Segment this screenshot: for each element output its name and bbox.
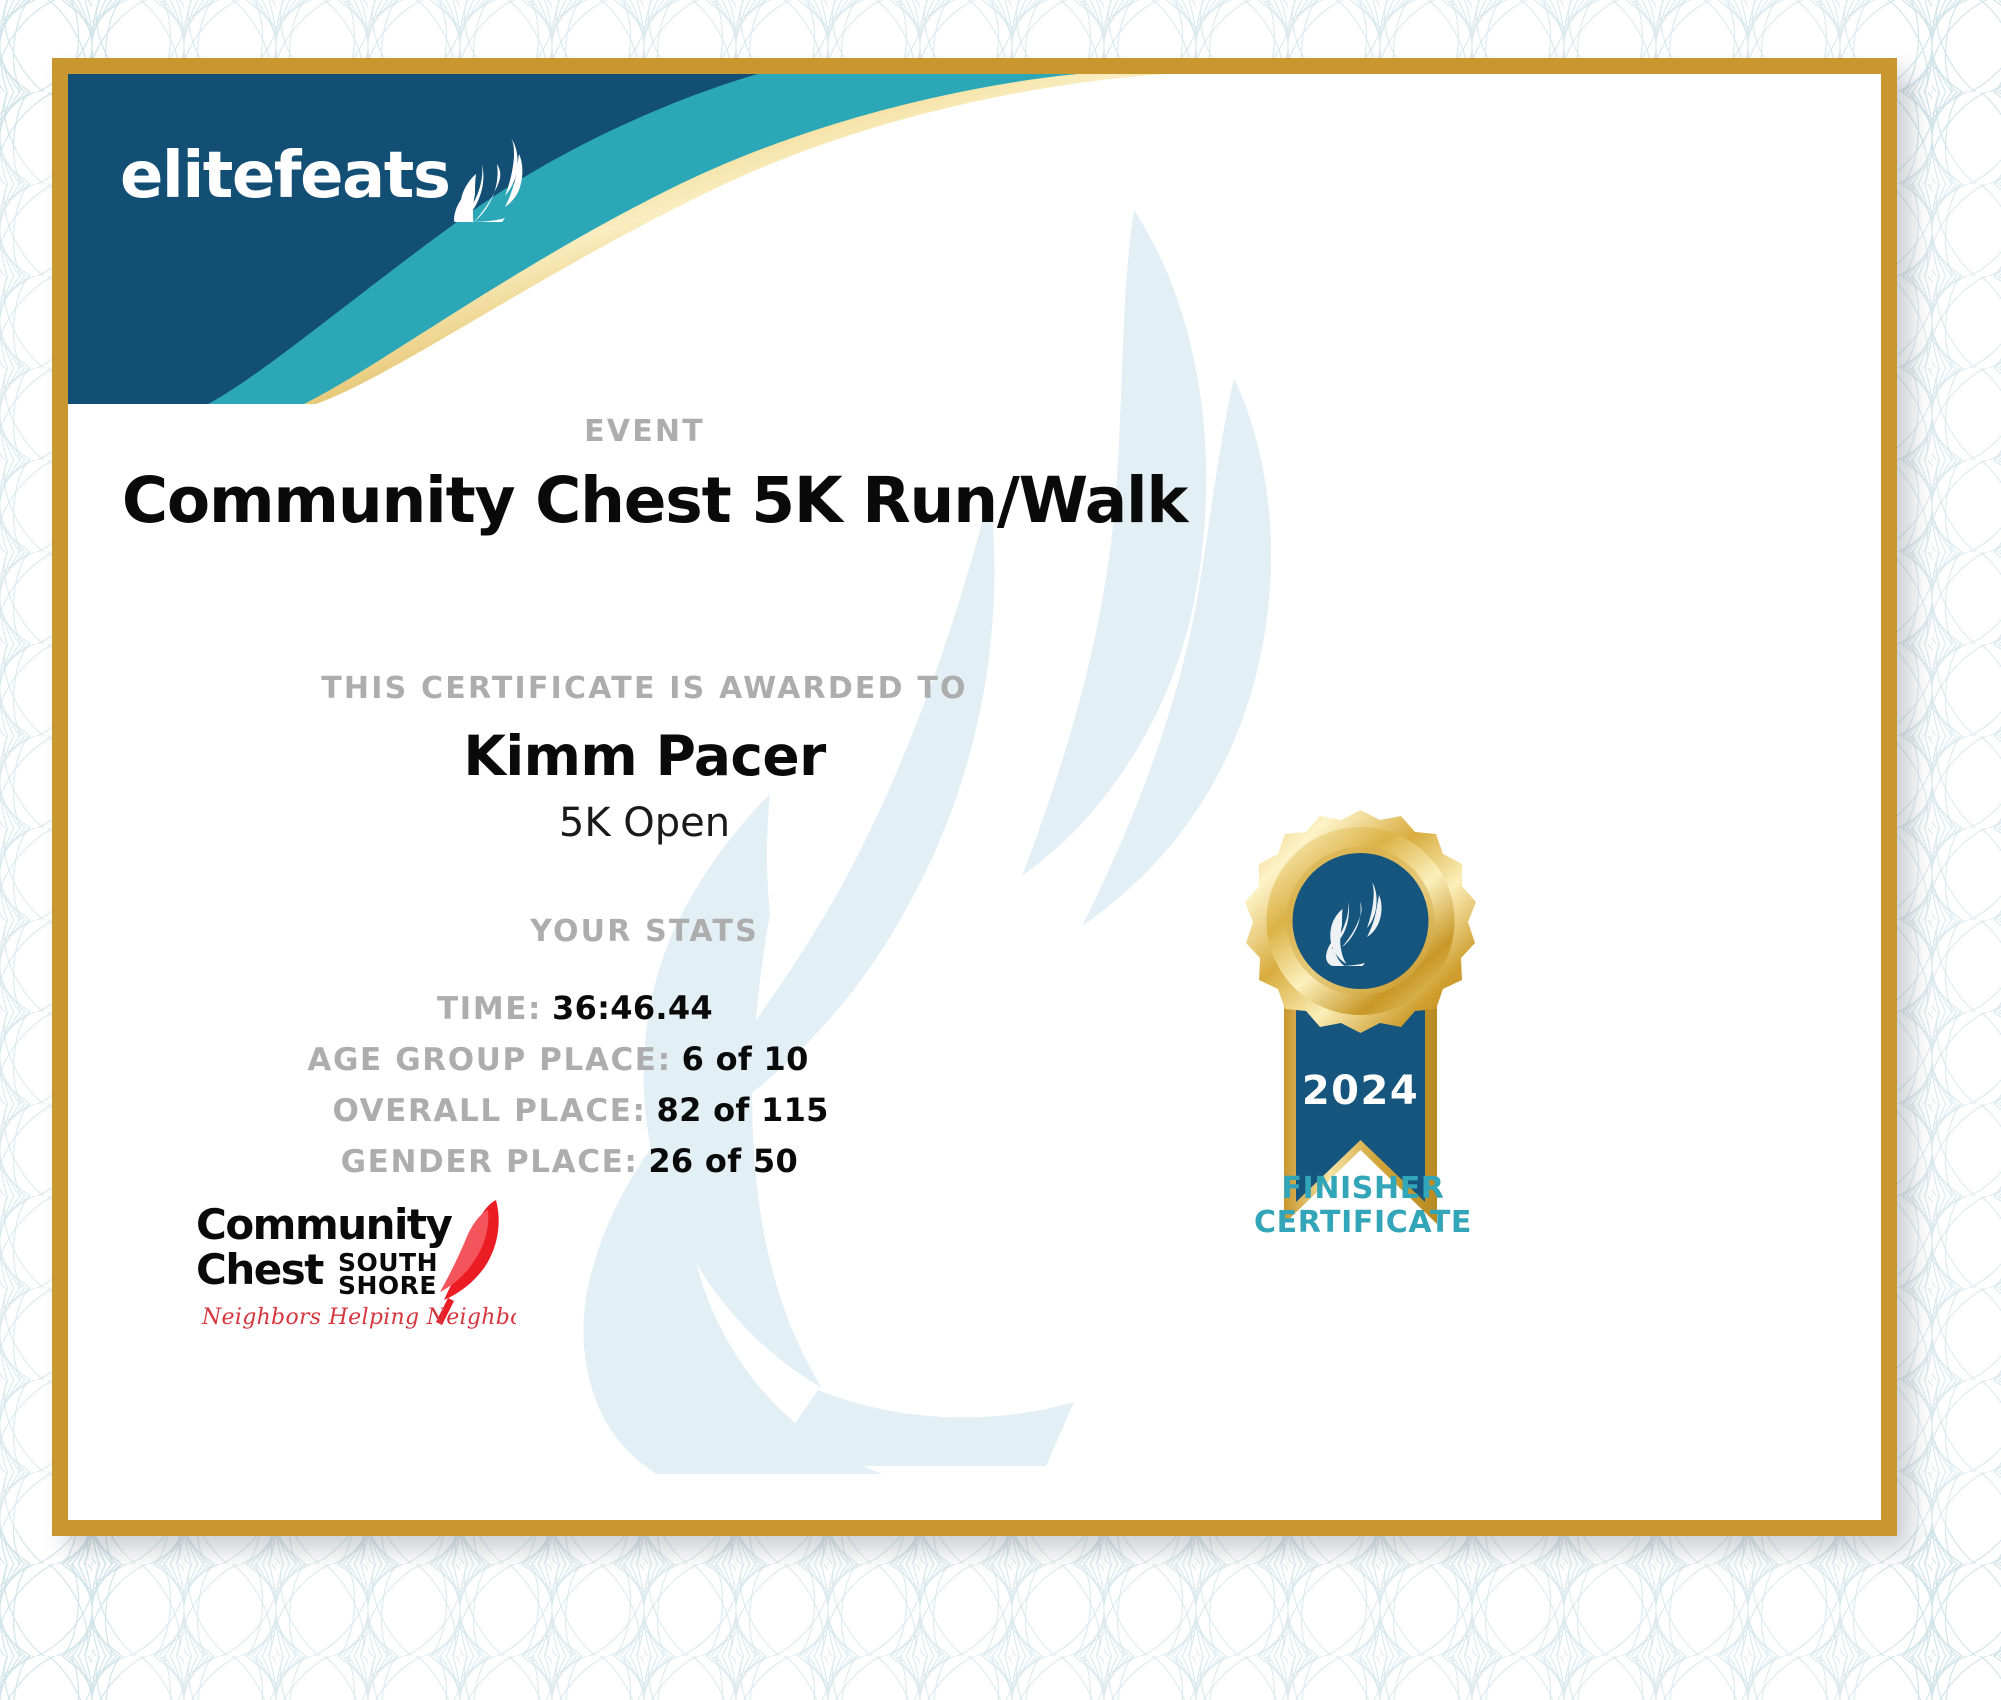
stat-key: TIME:	[437, 991, 542, 1027]
recipient-name: Kimm Pacer	[68, 724, 1221, 788]
sponsor-name-line2: Chest	[196, 1245, 324, 1294]
sponsor-region-line2: SHORE	[338, 1271, 437, 1300]
stat-value: 26 of 50	[648, 1142, 948, 1180]
elitefeats-wordmark: elitefeats	[120, 144, 449, 208]
badge-year: 2024	[1302, 1068, 1419, 1114]
event-title: Community Chest 5K Run/Walk	[68, 464, 1241, 537]
stat-row-gender-place: GENDER PLACE: 26 of 50	[68, 1142, 1221, 1180]
stat-row-overall-place: OVERALL PLACE: 82 of 115	[68, 1091, 1221, 1129]
badge-medal	[1245, 810, 1476, 1033]
certificate-gold-frame: elitefeats EVENT Community Ch	[52, 58, 1897, 1536]
stat-key: AGE GROUP PLACE:	[307, 1042, 671, 1078]
stats-table: TIME: 36:46.44 AGE GROUP PLACE: 6 of 10 …	[68, 989, 1221, 1193]
elitefeats-logo: elitefeats	[120, 136, 531, 216]
stat-key: GENDER PLACE:	[341, 1144, 639, 1180]
stat-value: 82 of 115	[657, 1091, 957, 1129]
stat-row-age-group-place: AGE GROUP PLACE: 6 of 10	[68, 1040, 1221, 1078]
certificate-content: EVENT Community Chest 5K Run/Walk THIS C…	[68, 74, 1881, 1520]
sponsor-name-line1: Community	[196, 1200, 452, 1249]
stat-key: OVERALL PLACE:	[332, 1093, 646, 1129]
event-label: EVENT	[68, 414, 1221, 449]
certificate-body: elitefeats EVENT Community Ch	[68, 74, 1881, 1520]
winged-foot-icon	[453, 136, 531, 222]
badge-caption-line1: FINISHER	[1198, 1172, 1528, 1206]
badge-caption: FINISHER CERTIFICATE	[1198, 1172, 1528, 1240]
stat-row-time: TIME: 36:46.44	[68, 989, 1221, 1027]
stat-value: 36:46.44	[552, 989, 852, 1027]
division-name: 5K Open	[68, 800, 1221, 846]
sponsor-tagline: Neighbors Helping Neighbors	[201, 1305, 516, 1330]
stat-value: 6 of 10	[682, 1040, 982, 1078]
certificate-page: elitefeats EVENT Community Ch	[0, 0, 2001, 1700]
community-chest-sponsor-logo: Community Chest SOUTH SHORE Neighbors He…	[196, 1194, 516, 1334]
your-stats-label: YOUR STATS	[68, 914, 1221, 949]
badge-caption-line2: CERTIFICATE	[1198, 1206, 1528, 1240]
awarded-to-label: THIS CERTIFICATE IS AWARDED TO	[68, 671, 1221, 706]
